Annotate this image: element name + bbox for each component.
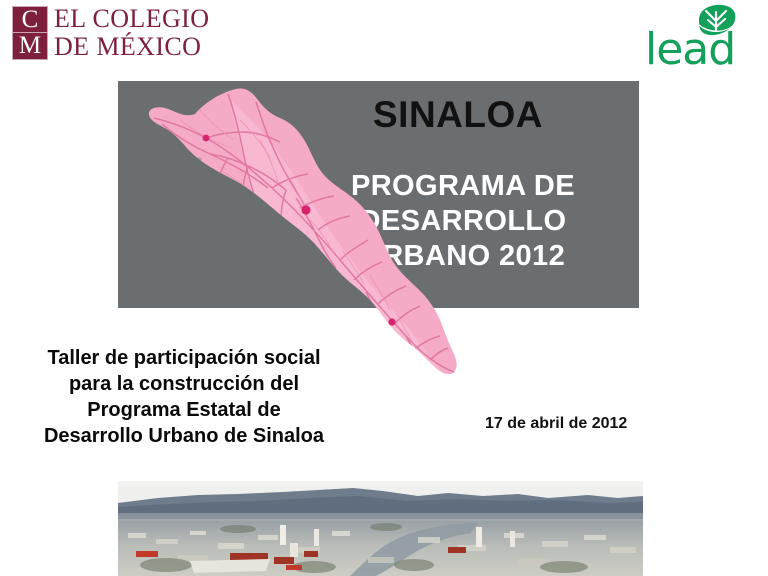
monogram-letter-c: C [12,6,48,33]
banner-program-line1: PROGRAMA DE [293,169,633,204]
banner-state-name: SINALOA [293,95,623,135]
title-line-1: Taller de participación social [14,345,354,371]
colmex-wordmark: EL COLEGIO DE MÉXICO [54,4,209,61]
colmex-wordmark-line2: DE MÉXICO [54,33,209,61]
title-line-3: Programa Estatal de [14,397,354,423]
lead-wordmark: lead [645,28,735,72]
monogram-letter-m: M [12,33,48,60]
title-line-2: para la construcción del [14,371,354,397]
banner-program-line2: DESARROLLO [293,204,633,239]
banner-program-line3: URBANO 2012 [293,239,633,274]
lead-logo: lead [645,4,755,74]
program-banner: SINALOA PROGRAMA DE DESARROLLO URBANO 20… [118,81,639,308]
aerial-cityscape-photo [118,481,643,576]
event-date: 17 de abril de 2012 [485,414,627,434]
slide-title: Taller de participación social para la c… [14,345,354,449]
colegio-de-mexico-logo: C M EL COLEGIO DE MÉXICO [12,4,209,61]
colmex-monogram: C M [12,4,48,60]
colmex-wordmark-line1: EL COLEGIO [54,5,209,33]
banner-program-title: PROGRAMA DE DESARROLLO URBANO 2012 [293,169,633,274]
title-line-4: Desarrollo Urbano de Sinaloa [14,423,354,449]
